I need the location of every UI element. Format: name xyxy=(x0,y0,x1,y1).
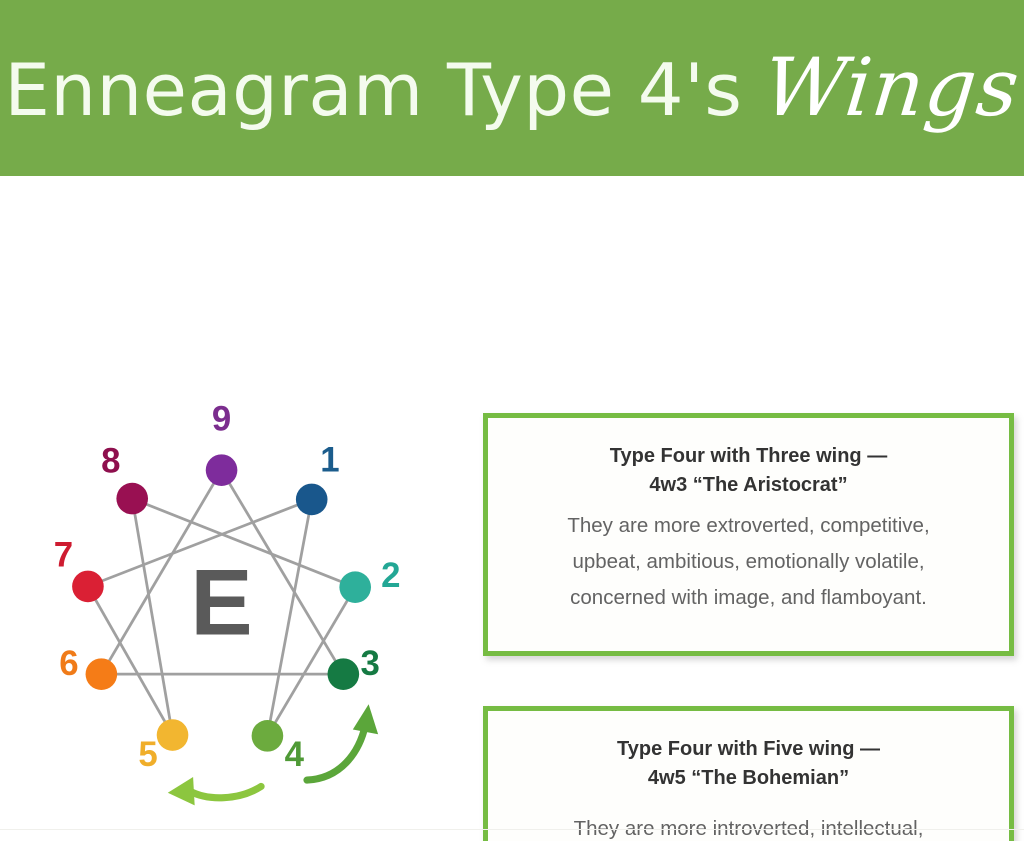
card-title-4w5: Type Four with Five wing — 4w5 “The Bohe… xyxy=(510,725,987,793)
enneagram-diagram: E 912345678 xyxy=(0,176,470,841)
bottom-divider xyxy=(0,829,1024,830)
enneagram-node-4[interactable] xyxy=(252,720,284,752)
enneagram-label-2: 2 xyxy=(381,557,400,595)
enneagram-label-1: 1 xyxy=(320,442,339,480)
card-body-line1: They are more extroverted, competitive, xyxy=(510,508,987,544)
enneagram-node-2[interactable] xyxy=(339,571,371,603)
enneagram-label-9: 9 xyxy=(212,401,231,439)
arrow-to-three-head-icon xyxy=(353,704,378,734)
enneagram-node-1[interactable] xyxy=(296,484,328,516)
enneagram-label-7: 7 xyxy=(54,537,73,575)
enneagram-node-7[interactable] xyxy=(72,571,104,603)
infographic-page: Enneagram Type 4's Wings E 912345678 xyxy=(0,0,1024,841)
enneagram-node-3[interactable] xyxy=(328,658,360,690)
wing-card-4w3: Type Four with Three wing — 4w3 “The Ari… xyxy=(483,413,1014,656)
page-title-main: Enneagram Type 4's xyxy=(4,54,742,126)
card-body-line3: concerned with image, and flamboyant. xyxy=(510,580,987,616)
card-title-line2: 4w5 “The Bohemian” xyxy=(510,764,987,793)
enneagram-direction-arrows xyxy=(168,704,378,805)
page-title-script: Wings xyxy=(760,48,1024,128)
enneagram-node-6[interactable] xyxy=(86,658,118,690)
arrow-to-five-head-icon xyxy=(168,777,195,805)
arrow-to-five-icon xyxy=(190,786,261,797)
enneagram-label-4: 4 xyxy=(285,736,305,774)
enneagram-label-6: 6 xyxy=(59,645,78,683)
wing-card-4w5: Type Four with Five wing — 4w5 “The Bohe… xyxy=(483,706,1014,841)
enneagram-label-5: 5 xyxy=(138,736,157,774)
center-letter-e: E xyxy=(190,551,252,655)
content-area: E 912345678 Type Four with Three wing — … xyxy=(0,176,1024,841)
enneagram-label-3: 3 xyxy=(361,645,380,683)
card-title-4w3: Type Four with Three wing — 4w3 “The Ari… xyxy=(510,432,987,500)
card-title-line2: 4w3 “The Aristocrat” xyxy=(510,471,987,500)
enneagram-label-8: 8 xyxy=(101,443,120,481)
enneagram-node-5[interactable] xyxy=(157,719,189,751)
enneagram-node-9[interactable] xyxy=(206,454,238,486)
card-title-line1: Type Four with Three wing — xyxy=(510,442,987,471)
card-body-4w5: They are more introverted, intellectual,… xyxy=(510,793,987,841)
enneagram-svg: E 912345678 xyxy=(0,176,470,841)
card-title-line1: Type Four with Five wing — xyxy=(510,735,987,764)
page-title: Enneagram Type 4's Wings xyxy=(4,48,1019,128)
header-banner: Enneagram Type 4's Wings xyxy=(0,0,1024,176)
arrow-to-three-icon xyxy=(307,725,366,780)
card-body-4w3: They are more extroverted, competitive, … xyxy=(510,500,987,616)
enneagram-node-8[interactable] xyxy=(116,483,148,515)
card-body-line2: upbeat, ambitious, emotionally volatile, xyxy=(510,544,987,580)
card-body-line1: They are more introverted, intellectual, xyxy=(510,811,987,841)
